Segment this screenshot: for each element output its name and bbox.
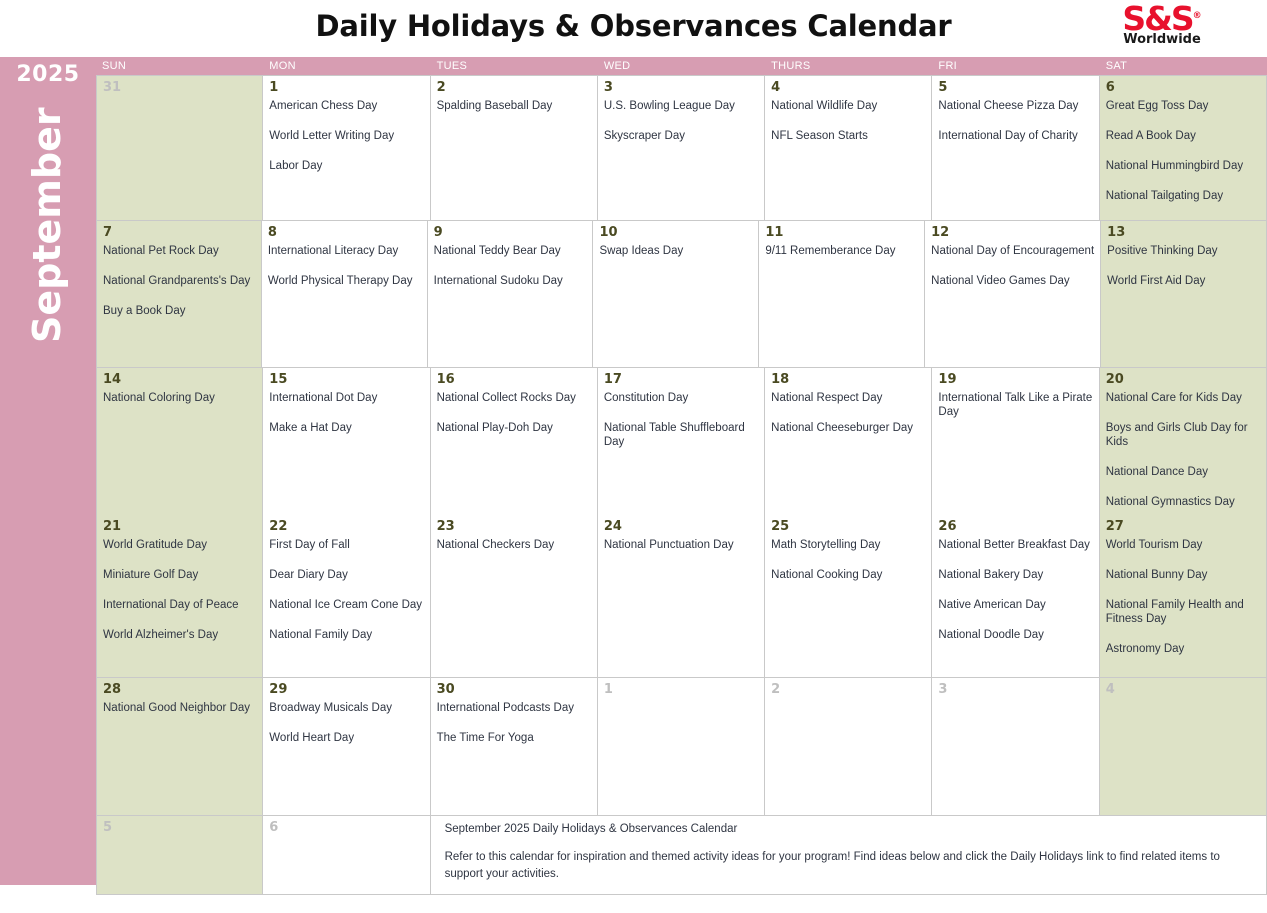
day-events: National Pet Rock DayNational Grandparen… (103, 244, 255, 318)
day-events: National Day of EncouragementNational Vi… (931, 244, 1094, 288)
day-events: National Better Breakfast DayNational Ba… (938, 538, 1092, 642)
event-item[interactable]: Miniature Golf Day (103, 568, 256, 582)
day-cell[interactable]: 7National Pet Rock DayNational Grandpare… (96, 221, 262, 368)
weekday-mon: MON (263, 57, 430, 75)
event-item[interactable]: World Heart Day (269, 731, 423, 745)
week-row: 21World Gratitude DayMiniature Golf DayI… (96, 515, 1267, 678)
event-item[interactable]: National Respect Day (771, 391, 925, 405)
day-events: National Cheese Pizza DayInternational D… (938, 99, 1092, 143)
day-cell[interactable]: 6Great Egg Toss DayRead A Book DayNation… (1100, 75, 1267, 221)
event-item[interactable]: National Cooking Day (771, 568, 925, 582)
event-item[interactable]: National Table Shuffleboard Day (604, 421, 758, 449)
day-cell[interactable]: 25Math Storytelling DayNational Cooking … (765, 515, 932, 678)
weekday-wed: WED (598, 57, 765, 75)
day-number: 22 (269, 519, 423, 535)
day-events: National Teddy Bear DayInternational Sud… (434, 244, 587, 288)
event-item[interactable]: National Video Games Day (931, 274, 1094, 288)
day-events: American Chess DayWorld Letter Writing D… (269, 99, 423, 173)
day-number: 2 (437, 80, 591, 96)
day-cell[interactable]: 21World Gratitude DayMiniature Golf DayI… (96, 515, 263, 678)
day-cell[interactable]: 2Spalding Baseball Day (431, 75, 598, 221)
day-number: 21 (103, 519, 256, 535)
event-item[interactable]: National Day of Encouragement (931, 244, 1094, 258)
event-item[interactable]: International Literacy Day (268, 244, 421, 258)
day-events: World Gratitude DayMiniature Golf DayInt… (103, 538, 256, 642)
page-title: Daily Holidays & Observances Calendar (0, 9, 1267, 43)
day-cell[interactable]: 30International Podcasts DayThe Time For… (431, 678, 598, 816)
event-item[interactable]: International Day of Peace (103, 598, 256, 612)
event-item[interactable]: Great Egg Toss Day (1106, 99, 1260, 113)
day-events: National Checkers Day (437, 538, 591, 552)
day-cell[interactable]: 19International Talk Like a Pirate Day (932, 368, 1099, 526)
event-item[interactable]: Swap Ideas Day (599, 244, 752, 258)
note-title: September 2025 Daily Holidays & Observan… (445, 822, 1252, 837)
calendar-note: September 2025 Daily Holidays & Observan… (431, 816, 1267, 895)
day-cell[interactable]: 5National Cheese Pizza DayInternational … (932, 75, 1099, 221)
event-item[interactable]: Boys and Girls Club Day for Kids (1106, 421, 1260, 449)
day-number: 18 (771, 372, 925, 388)
day-events: National Coloring Day (103, 391, 256, 405)
event-item[interactable]: Astronomy Day (1106, 642, 1260, 656)
month-label: September (25, 107, 71, 397)
event-item[interactable]: National Teddy Bear Day (434, 244, 587, 258)
day-cell[interactable]: 5 (96, 816, 263, 895)
week-row: 28National Good Neighbor Day29Broadway M… (96, 678, 1267, 816)
day-number: 31 (103, 80, 256, 96)
day-cell[interactable]: 2 (765, 678, 932, 816)
weekday-thurs: THURS (765, 57, 932, 75)
event-item[interactable]: International Podcasts Day (437, 701, 591, 715)
event-item[interactable]: Dear Diary Day (269, 568, 423, 582)
event-item[interactable]: Read A Book Day (1106, 129, 1260, 143)
event-item[interactable]: International Talk Like a Pirate Day (938, 391, 1092, 419)
day-number: 9 (434, 225, 587, 241)
week-row: 7National Pet Rock DayNational Grandpare… (96, 221, 1267, 368)
brand-mark-text: S&S (1122, 0, 1192, 38)
day-number: 23 (437, 519, 591, 535)
day-events: Broadway Musicals DayWorld Heart Day (269, 701, 423, 745)
day-cell[interactable]: 23National Checkers Day (431, 515, 598, 678)
day-events: Swap Ideas Day (599, 244, 752, 258)
day-number: 1 (269, 80, 423, 96)
event-item[interactable]: National Better Breakfast Day (938, 538, 1092, 552)
weekday-sun: SUN (96, 57, 263, 75)
event-item[interactable]: Native American Day (938, 598, 1092, 612)
event-item[interactable]: Constitution Day (604, 391, 758, 405)
event-item[interactable]: National Play-Doh Day (437, 421, 591, 435)
page-header: Daily Holidays & Observances Calendar S&… (0, 0, 1267, 57)
event-item[interactable]: National Family Health and Fitness Day (1106, 598, 1260, 626)
footer-row: 5 6 September 2025 Daily Holidays & Obse… (96, 816, 1267, 895)
day-number: 13 (1107, 225, 1260, 241)
day-number: 19 (938, 372, 1092, 388)
event-item[interactable]: National Punctuation Day (604, 538, 758, 552)
weekday-sat: SAT (1100, 57, 1267, 75)
day-number: 14 (103, 372, 256, 388)
event-item[interactable]: National Tailgating Day (1106, 189, 1260, 203)
day-number: 11 (765, 225, 918, 241)
day-events: International Podcasts DayThe Time For Y… (437, 701, 591, 745)
event-item[interactable]: Labor Day (269, 159, 423, 173)
day-events: International Talk Like a Pirate Day (938, 391, 1092, 419)
day-number: 12 (931, 225, 1094, 241)
day-events: U.S. Bowling League DaySkyscraper Day (604, 99, 758, 143)
day-number: 3 (604, 80, 758, 96)
event-item[interactable]: Math Storytelling Day (771, 538, 925, 552)
event-item[interactable]: Buy a Book Day (103, 304, 255, 318)
day-cell[interactable]: 12National Day of EncouragementNational … (925, 221, 1101, 368)
event-item[interactable]: World Alzheimer's Day (103, 628, 256, 642)
day-number: 29 (269, 682, 423, 698)
event-item[interactable]: World Letter Writing Day (269, 129, 423, 143)
event-item[interactable]: National Ice Cream Cone Day (269, 598, 423, 612)
day-cell[interactable]: 16National Collect Rocks DayNational Pla… (431, 368, 598, 526)
day-number: 15 (269, 372, 423, 388)
day-cell[interactable]: 29Broadway Musicals DayWorld Heart Day (263, 678, 430, 816)
day-events: National Respect DayNational Cheeseburge… (771, 391, 925, 435)
day-number: 26 (938, 519, 1092, 535)
event-item[interactable]: Skyscraper Day (604, 129, 758, 143)
day-events: Spalding Baseball Day (437, 99, 591, 113)
day-number: 2 (771, 682, 925, 698)
weeks-host: 311American Chess DayWorld Letter Writin… (96, 75, 1267, 816)
event-item[interactable]: National Cheese Pizza Day (938, 99, 1092, 113)
week-row: 311American Chess DayWorld Letter Writin… (96, 75, 1267, 221)
event-item[interactable]: National Cheeseburger Day (771, 421, 925, 435)
event-item[interactable]: Positive Thinking Day (1107, 244, 1260, 258)
week-row: 14National Coloring Day15International D… (96, 368, 1267, 515)
day-cell[interactable]: 4National Wildlife DayNFL Season Starts (765, 75, 932, 221)
event-item[interactable]: National Family Day (269, 628, 423, 642)
day-number: 28 (103, 682, 256, 698)
day-events: National Care for Kids DayBoys and Girls… (1106, 391, 1260, 509)
day-number: 3 (938, 682, 1092, 698)
day-cell[interactable]: 6 (263, 816, 430, 895)
day-number: 4 (771, 80, 925, 96)
event-item[interactable]: Spalding Baseball Day (437, 99, 591, 113)
event-item[interactable]: National Care for Kids Day (1106, 391, 1260, 405)
day-cell[interactable]: 26National Better Breakfast DayNational … (932, 515, 1099, 678)
day-number: 30 (437, 682, 591, 698)
day-events: National Punctuation Day (604, 538, 758, 552)
day-cell[interactable]: 20National Care for Kids DayBoys and Gir… (1100, 368, 1267, 526)
day-cell[interactable]: 13Positive Thinking DayWorld First Aid D… (1101, 221, 1267, 368)
day-number: 10 (599, 225, 752, 241)
year-label: 2025 (0, 62, 96, 87)
day-cell[interactable]: 1 (598, 678, 765, 816)
event-item[interactable]: World Gratitude Day (103, 538, 256, 552)
day-number: 5 (103, 820, 256, 836)
event-item[interactable]: National Bunny Day (1106, 568, 1260, 582)
event-item[interactable]: National Good Neighbor Day (103, 701, 256, 715)
note-body: Refer to this calendar for inspiration a… (445, 849, 1252, 883)
day-cell[interactable]: 24National Punctuation Day (598, 515, 765, 678)
weekday-fri: FRI (932, 57, 1099, 75)
day-cell[interactable]: 3U.S. Bowling League DaySkyscraper Day (598, 75, 765, 221)
day-events: Great Egg Toss DayRead A Book DayNationa… (1106, 99, 1260, 203)
day-events: World Tourism DayNational Bunny DayNatio… (1106, 538, 1260, 656)
day-number: 8 (268, 225, 421, 241)
day-cell[interactable]: 28National Good Neighbor Day (96, 678, 263, 816)
day-events: International Dot DayMake a Hat Day (269, 391, 423, 435)
day-events: Positive Thinking DayWorld First Aid Day (1107, 244, 1260, 288)
day-events: First Day of FallDear Diary DayNational … (269, 538, 423, 642)
event-item[interactable]: The Time For Yoga (437, 731, 591, 745)
day-number: 6 (1106, 80, 1260, 96)
event-item[interactable]: National Checkers Day (437, 538, 591, 552)
day-number: 4 (1106, 682, 1260, 698)
day-number: 1 (604, 682, 758, 698)
day-cell[interactable]: 31 (96, 75, 263, 221)
day-cell[interactable]: 4 (1100, 678, 1267, 816)
day-number: 5 (938, 80, 1092, 96)
day-number: 27 (1106, 519, 1260, 535)
event-item[interactable]: World First Aid Day (1107, 274, 1260, 288)
day-cell[interactable]: 27World Tourism DayNational Bunny DayNat… (1100, 515, 1267, 678)
day-events: National Good Neighbor Day (103, 701, 256, 715)
event-item[interactable]: American Chess Day (269, 99, 423, 113)
day-cell[interactable]: 15International Dot DayMake a Hat Day (263, 368, 430, 526)
day-number: 6 (269, 820, 423, 836)
day-cell[interactable]: 8International Literacy DayWorld Physica… (262, 221, 428, 368)
event-item[interactable]: National Coloring Day (103, 391, 256, 405)
day-events: National Collect Rocks DayNational Play-… (437, 391, 591, 435)
day-number: 24 (604, 519, 758, 535)
day-cell[interactable]: 3 (932, 678, 1099, 816)
day-cell[interactable]: 18National Respect DayNational Cheesebur… (765, 368, 932, 526)
event-item[interactable]: National Grandparents's Day (103, 274, 255, 288)
calendar: 2025 September SUN MON TUES WED THURS FR… (0, 57, 1267, 913)
calendar-grid: SUN MON TUES WED THURS FRI SAT 311Americ… (96, 57, 1267, 913)
day-events: 9/11 Rememberance Day (765, 244, 918, 258)
day-number: 25 (771, 519, 925, 535)
day-events: International Literacy DayWorld Physical… (268, 244, 421, 288)
event-item[interactable]: U.S. Bowling League Day (604, 99, 758, 113)
day-number: 20 (1106, 372, 1260, 388)
day-events: Math Storytelling DayNational Cooking Da… (771, 538, 925, 582)
event-item[interactable]: International Sudoku Day (434, 274, 587, 288)
event-item[interactable]: National Wildlife Day (771, 99, 925, 113)
event-item[interactable]: World Physical Therapy Day (268, 274, 421, 288)
day-cell[interactable]: 119/11 Rememberance Day (759, 221, 925, 368)
event-item[interactable]: National Dance Day (1106, 465, 1260, 479)
event-item[interactable]: International Dot Day (269, 391, 423, 405)
day-cell[interactable]: 10Swap Ideas Day (593, 221, 759, 368)
event-item[interactable]: World Tourism Day (1106, 538, 1260, 552)
day-number: 16 (437, 372, 591, 388)
day-cell[interactable]: 14National Coloring Day (96, 368, 263, 526)
day-events: Constitution DayNational Table Shufflebo… (604, 391, 758, 449)
weekday-tues: TUES (431, 57, 598, 75)
day-number: 17 (604, 372, 758, 388)
ss-worldwide-logo: S&S® Worldwide (1112, 2, 1212, 46)
event-item[interactable]: First Day of Fall (269, 538, 423, 552)
day-cell[interactable]: 9National Teddy Bear DayInternational Su… (428, 221, 594, 368)
event-item[interactable]: Make a Hat Day (269, 421, 423, 435)
day-cell[interactable]: 1American Chess DayWorld Letter Writing … (263, 75, 430, 221)
event-item[interactable]: International Day of Charity (938, 129, 1092, 143)
day-number: 7 (103, 225, 255, 241)
event-item[interactable]: National Hummingbird Day (1106, 159, 1260, 173)
day-cell[interactable]: 22First Day of FallDear Diary DayNationa… (263, 515, 430, 678)
day-events: National Wildlife DayNFL Season Starts (771, 99, 925, 143)
event-item[interactable]: National Pet Rock Day (103, 244, 255, 258)
event-item[interactable]: National Doodle Day (938, 628, 1092, 642)
day-cell[interactable]: 17Constitution DayNational Table Shuffle… (598, 368, 765, 526)
event-item[interactable]: National Gymnastics Day (1106, 495, 1260, 509)
brand-mark: S&S® (1112, 2, 1212, 35)
event-item[interactable]: Broadway Musicals Day (269, 701, 423, 715)
event-item[interactable]: National Bakery Day (938, 568, 1092, 582)
event-item[interactable]: 9/11 Rememberance Day (765, 244, 918, 258)
month-spine: 2025 September (0, 57, 96, 885)
weekday-header-row: SUN MON TUES WED THURS FRI SAT (96, 57, 1267, 75)
event-item[interactable]: National Collect Rocks Day (437, 391, 591, 405)
event-item[interactable]: NFL Season Starts (771, 129, 925, 143)
registered-icon: ® (1193, 11, 1202, 21)
